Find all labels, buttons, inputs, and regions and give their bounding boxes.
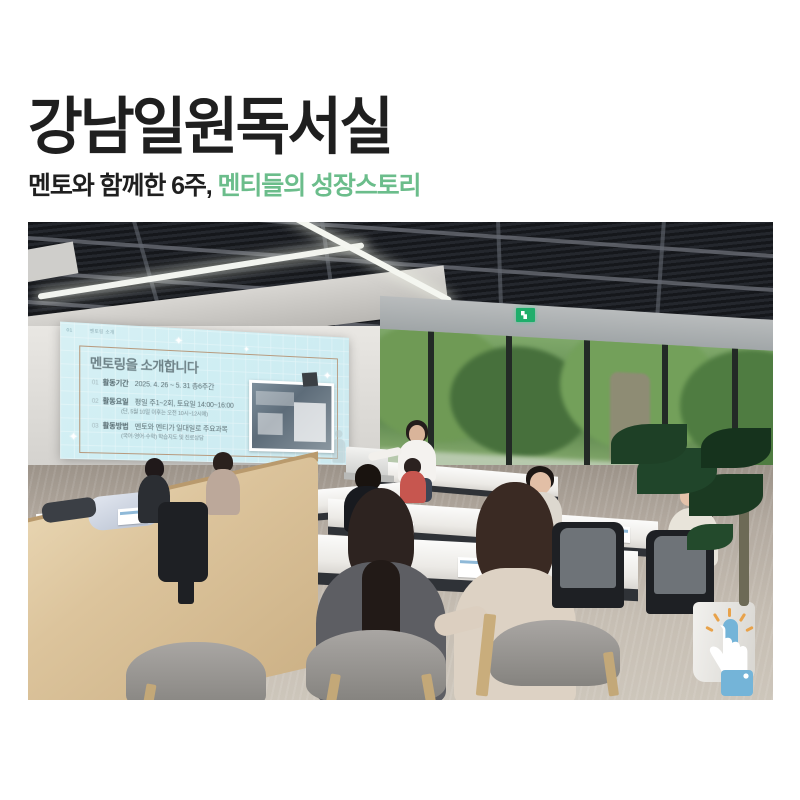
sparkle-decoration: ✦ bbox=[174, 336, 183, 348]
emergency-exit-sign bbox=[516, 308, 535, 322]
cursor-cuff bbox=[721, 670, 753, 696]
slide-photo bbox=[249, 380, 334, 453]
chair-post bbox=[178, 534, 194, 604]
header: 강남일원독서실 멘토와 함께한 6주, 멘티들의 성장스토리 bbox=[28, 96, 773, 201]
subtitle-accent: 멘티들의 성장스토리 bbox=[212, 172, 421, 200]
page-subtitle: 멘토와 함께한 6주, 멘티들의 성장스토리 bbox=[28, 173, 773, 201]
plant-foliage bbox=[611, 424, 687, 464]
pointing-hand-cursor[interactable] bbox=[702, 608, 764, 700]
participant bbox=[206, 452, 240, 514]
projection-screen: 01 멘토링 소개 멘토링을 소개합니다 01활동기간2025. 4. 26 ~… bbox=[60, 322, 349, 465]
slide-row-number: 02 bbox=[92, 399, 99, 405]
slide-person-illustration bbox=[332, 430, 345, 463]
slide-row-number: 01 bbox=[92, 380, 99, 386]
sparkle-decoration: ✦ bbox=[243, 346, 249, 354]
task-chair-back bbox=[560, 528, 616, 588]
slide-tag: 멘토링 소개 bbox=[90, 328, 115, 336]
cursor-cuff-dot bbox=[743, 673, 748, 678]
slide-row-number: 03 bbox=[92, 423, 99, 429]
sparkle-decoration: ✦ bbox=[69, 432, 79, 444]
slide-row-label: 활동기간 bbox=[103, 379, 129, 387]
slide-row-label: 활동요일 bbox=[103, 398, 129, 406]
page-title: 강남일원독서실 bbox=[28, 96, 743, 159]
lounge-chair bbox=[490, 620, 620, 686]
plant-foliage bbox=[687, 524, 733, 550]
slide-photo-clip bbox=[302, 372, 318, 387]
subtitle-primary: 멘토와 함께한 6주, bbox=[28, 172, 212, 200]
sparkle-decoration: ✦ bbox=[323, 371, 332, 382]
plant-foliage bbox=[701, 428, 771, 468]
slide-card: 강남일원독서실 멘토와 함께한 6주, 멘티들의 성장스토리 bbox=[0, 0, 800, 800]
slide-number: 01 bbox=[66, 327, 72, 333]
classroom-photo: 01 멘토링 소개 멘토링을 소개합니다 01활동기간2025. 4. 26 ~… bbox=[28, 222, 773, 700]
slide-row-label: 활동방법 bbox=[103, 423, 129, 431]
